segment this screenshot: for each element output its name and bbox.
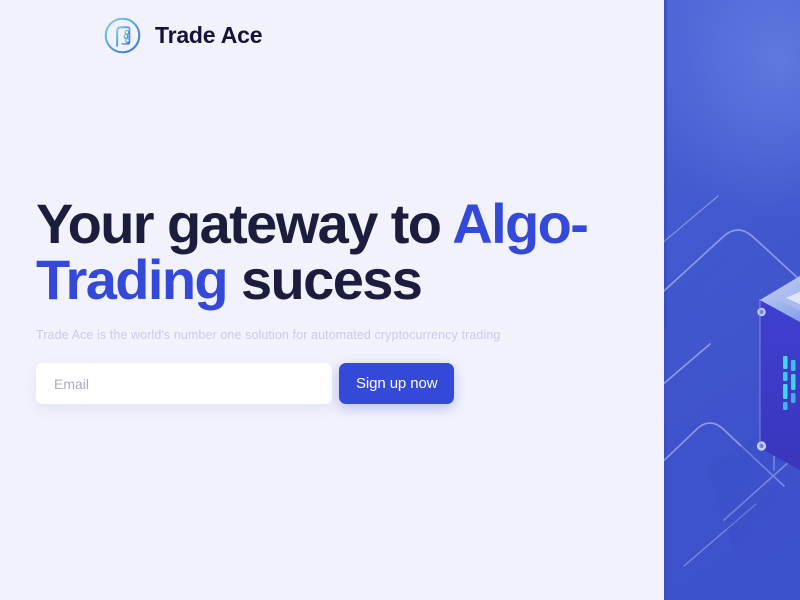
circuit-circle-logo-icon	[103, 16, 142, 55]
email-input[interactable]	[36, 363, 332, 404]
brand-name: Trade Ace	[155, 24, 262, 47]
isometric-server-circuit-illustration	[664, 0, 800, 600]
hero-artwork-panel	[664, 0, 800, 600]
sign-up-button[interactable]: Sign up now	[339, 363, 454, 404]
page-title: Your gateway to Algo-Trading sucess	[36, 196, 646, 308]
hero-content: Trade Ace Your gateway to Algo-Trading s…	[0, 0, 664, 600]
hero-subtitle: Trade Ace is the world's number one solu…	[36, 328, 500, 342]
headline-segment-1: Your gateway to	[36, 192, 452, 255]
brand-logo[interactable]: Trade Ace	[103, 16, 262, 55]
signup-form: Sign up now	[36, 363, 454, 404]
headline-segment-2: sucess	[227, 248, 421, 311]
